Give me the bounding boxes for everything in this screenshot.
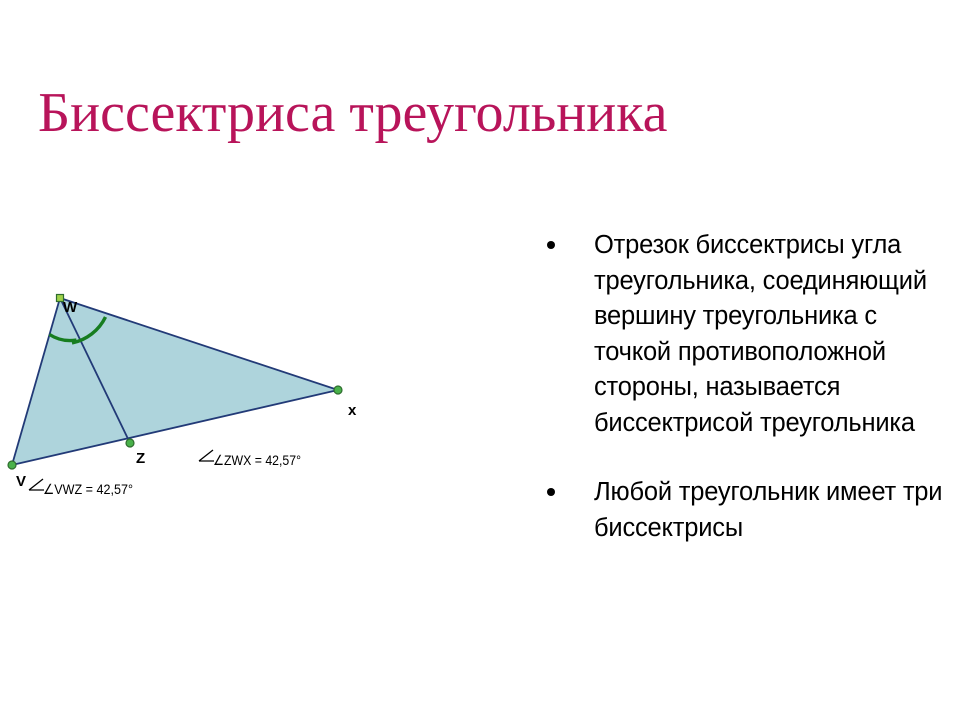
angle-glyph-VWZ [29,479,44,490]
bullet-item-2: Любой треугольник имеет три биссектрисы [536,475,950,546]
bullet-item-2-text: Любой треугольник имеет три биссектрисы [594,475,950,546]
bullet-item-1-text: Отрезок биссектрисы угла треугольника, с… [594,228,950,441]
page-title: Биссектриса треугольника [38,82,918,144]
measure-VWZ: ∠VWZ = 42,57° [29,479,133,497]
vertex-point-Z[interactable] [126,439,134,447]
measure-VWZ-text: ∠VWZ = 42,57° [43,481,133,497]
bullet-dot-icon [547,488,555,496]
measure-ZWX-text: ∠ZWX = 42,57° [213,452,301,468]
bullet-item-1: Отрезок биссектрисы угла треугольника, с… [536,228,950,441]
vertex-label-Z: Z [136,450,145,467]
vertex-label-X: x [348,402,357,419]
bullet-dot-icon [547,241,555,249]
bullet-list: Отрезок биссектрисы угла треугольника, с… [536,228,950,546]
slide-canvas: Биссектриса треугольника W x V Z [0,0,960,720]
triangle-shape-VWX [12,298,338,465]
angle-glyph-ZWX [199,450,214,461]
vertex-point-X[interactable] [334,386,342,394]
vertex-label-W: W [63,299,78,316]
vertex-label-V: V [16,473,26,490]
triangle-bisector-figure: W x V Z ∠ZWX = 42,57° ∠VWZ = 42,57° [0,270,420,530]
measure-ZWX: ∠ZWX = 42,57° [199,450,301,468]
vertex-point-V[interactable] [8,461,16,469]
